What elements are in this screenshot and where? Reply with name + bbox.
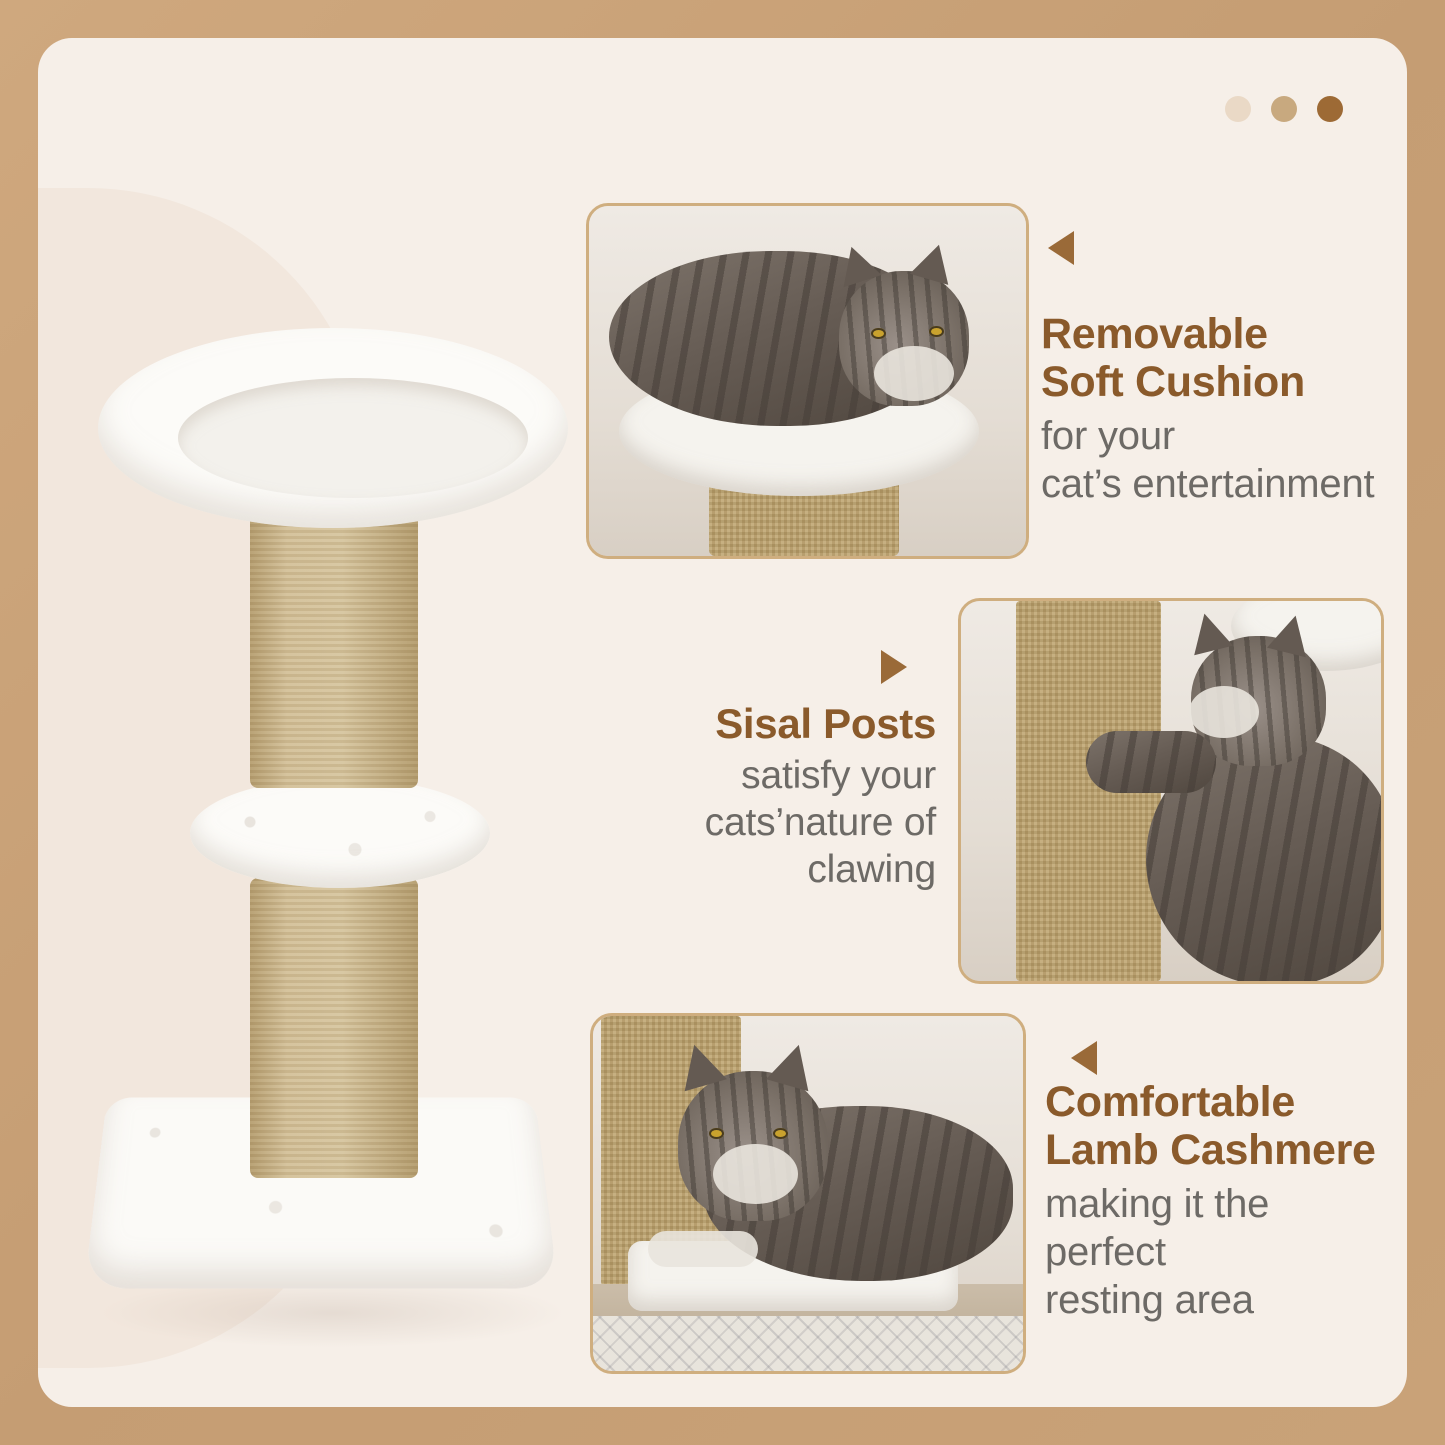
dot-medium-icon — [1271, 96, 1297, 122]
poster-page: Removable Soft Cushion for your cat’s en… — [0, 0, 1445, 1445]
feature-3-body-line-2: perfect — [1045, 1228, 1407, 1276]
dot-dark-icon — [1317, 96, 1343, 122]
feature-2-text: Sisal Posts satisfy your cats’nature of … — [638, 700, 936, 893]
rug — [593, 1316, 1023, 1371]
feature-2-title: Sisal Posts — [638, 700, 936, 747]
feature-1-title: Removable Soft Cushion — [1041, 310, 1407, 406]
feature-1-title-line-2: Soft Cushion — [1041, 358, 1407, 406]
cat-muzzle — [713, 1144, 798, 1204]
mid-shelf — [190, 778, 490, 888]
cat-muzzle — [1189, 686, 1259, 738]
feature-2-title-line-1: Sisal Posts — [638, 700, 936, 747]
dot-light-icon — [1225, 96, 1251, 122]
feature-3-title-line-2: Lamb Cashmere — [1045, 1126, 1407, 1174]
cat-paws — [648, 1231, 758, 1267]
feature-3-body: making it the perfect resting area — [1045, 1180, 1407, 1324]
feature-3-text: Comfortable Lamb Cashmere making it the … — [1045, 1078, 1407, 1324]
poster-card: Removable Soft Cushion for your cat’s en… — [38, 38, 1407, 1407]
product-shadow — [98, 1278, 568, 1348]
arrow-right-icon — [881, 650, 907, 684]
color-swatch-dots — [1225, 96, 1343, 122]
feature-1-text: Removable Soft Cushion for your cat’s en… — [1041, 310, 1407, 508]
feature-2-body: satisfy your cats’nature of clawing — [638, 753, 936, 893]
cat-eye-right — [773, 1128, 788, 1139]
cat-front-paw — [1086, 731, 1216, 793]
feature-2-body-line-1: satisfy your — [638, 753, 936, 800]
feature-2-body-line-3: clawing — [638, 847, 936, 894]
lower-sisal-post — [250, 878, 418, 1178]
feature-1-body-line-2: cat’s entertainment — [1041, 460, 1407, 508]
feature-2-body-line-2: cats’nature of — [638, 800, 936, 847]
photo-cat-scratching-post — [958, 598, 1384, 984]
arrow-left-icon — [1071, 1041, 1097, 1075]
photo-3-scene — [593, 1016, 1023, 1371]
arrow-left-icon — [1048, 231, 1074, 265]
feature-3-title: Comfortable Lamb Cashmere — [1045, 1078, 1407, 1174]
feature-3-body-line-1: making it the — [1045, 1180, 1407, 1228]
cat-eye-left — [709, 1128, 724, 1139]
top-bed — [98, 328, 568, 528]
cat-muzzle — [874, 346, 954, 401]
cat-eye-left — [871, 328, 886, 339]
upper-sisal-post — [250, 488, 418, 788]
feature-3-title-line-1: Comfortable — [1045, 1078, 1407, 1126]
photo-2-scene — [961, 601, 1381, 981]
photo-1-scene — [589, 206, 1026, 556]
feature-1-body: for your cat’s entertainment — [1041, 412, 1407, 508]
cat-eye-right — [929, 326, 944, 337]
cat-tree-illustration — [78, 278, 598, 1358]
top-bed-cushion — [178, 378, 528, 498]
feature-3-body-line-3: resting area — [1045, 1276, 1407, 1324]
feature-1-title-line-1: Removable — [1041, 310, 1407, 358]
photo-cat-on-cushion — [586, 203, 1029, 559]
feature-1-body-line-1: for your — [1041, 412, 1407, 460]
photo-cat-resting-on-lamb-cashmere — [590, 1013, 1026, 1374]
